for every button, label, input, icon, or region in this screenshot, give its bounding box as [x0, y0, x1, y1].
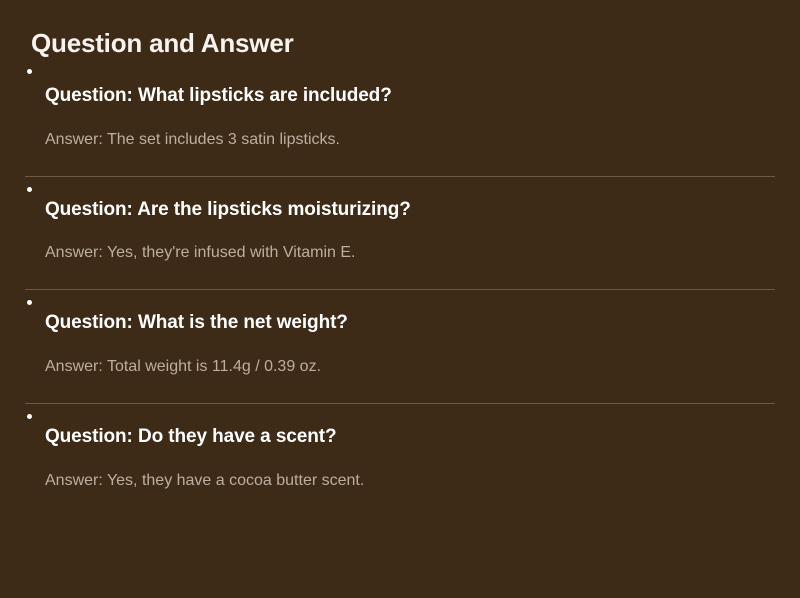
page-title: Question and Answer — [0, 0, 800, 59]
qa-question-text: Question: What lipsticks are included? — [45, 85, 392, 106]
qa-question: Question: What lipsticks are included? — [0, 59, 775, 108]
qa-panel: Question and Answer Question: What lipst… — [0, 0, 800, 598]
qa-question-text: Question: What is the net weight? — [45, 312, 348, 333]
qa-item: Question: What is the net weight? Answer… — [0, 290, 800, 378]
qa-question: Question: Do they have a scent? — [0, 404, 775, 449]
bullet-icon — [27, 69, 32, 74]
qa-question-text: Question: Are the lipsticks moisturizing… — [45, 199, 411, 220]
qa-question: Question: Are the lipsticks moisturizing… — [0, 177, 775, 222]
qa-question-text: Question: Do they have a scent? — [45, 426, 336, 447]
qa-answer: Answer: The set includes 3 satin lipstic… — [0, 108, 775, 151]
qa-item: Question: What lipsticks are included? A… — [0, 59, 800, 151]
qa-answer: Answer: Yes, they have a cocoa butter sc… — [0, 449, 775, 492]
bullet-icon — [27, 300, 32, 305]
qa-question: Question: What is the net weight? — [0, 290, 775, 335]
bullet-icon — [27, 187, 32, 192]
qa-answer: Answer: Total weight is 11.4g / 0.39 oz. — [0, 335, 775, 378]
qa-answer: Answer: Yes, they're infused with Vitami… — [0, 221, 775, 264]
qa-item: Question: Do they have a scent? Answer: … — [0, 404, 800, 492]
qa-item: Question: Are the lipsticks moisturizing… — [0, 177, 800, 265]
bullet-icon — [27, 414, 32, 419]
qa-list: Question: What lipsticks are included? A… — [0, 59, 800, 491]
